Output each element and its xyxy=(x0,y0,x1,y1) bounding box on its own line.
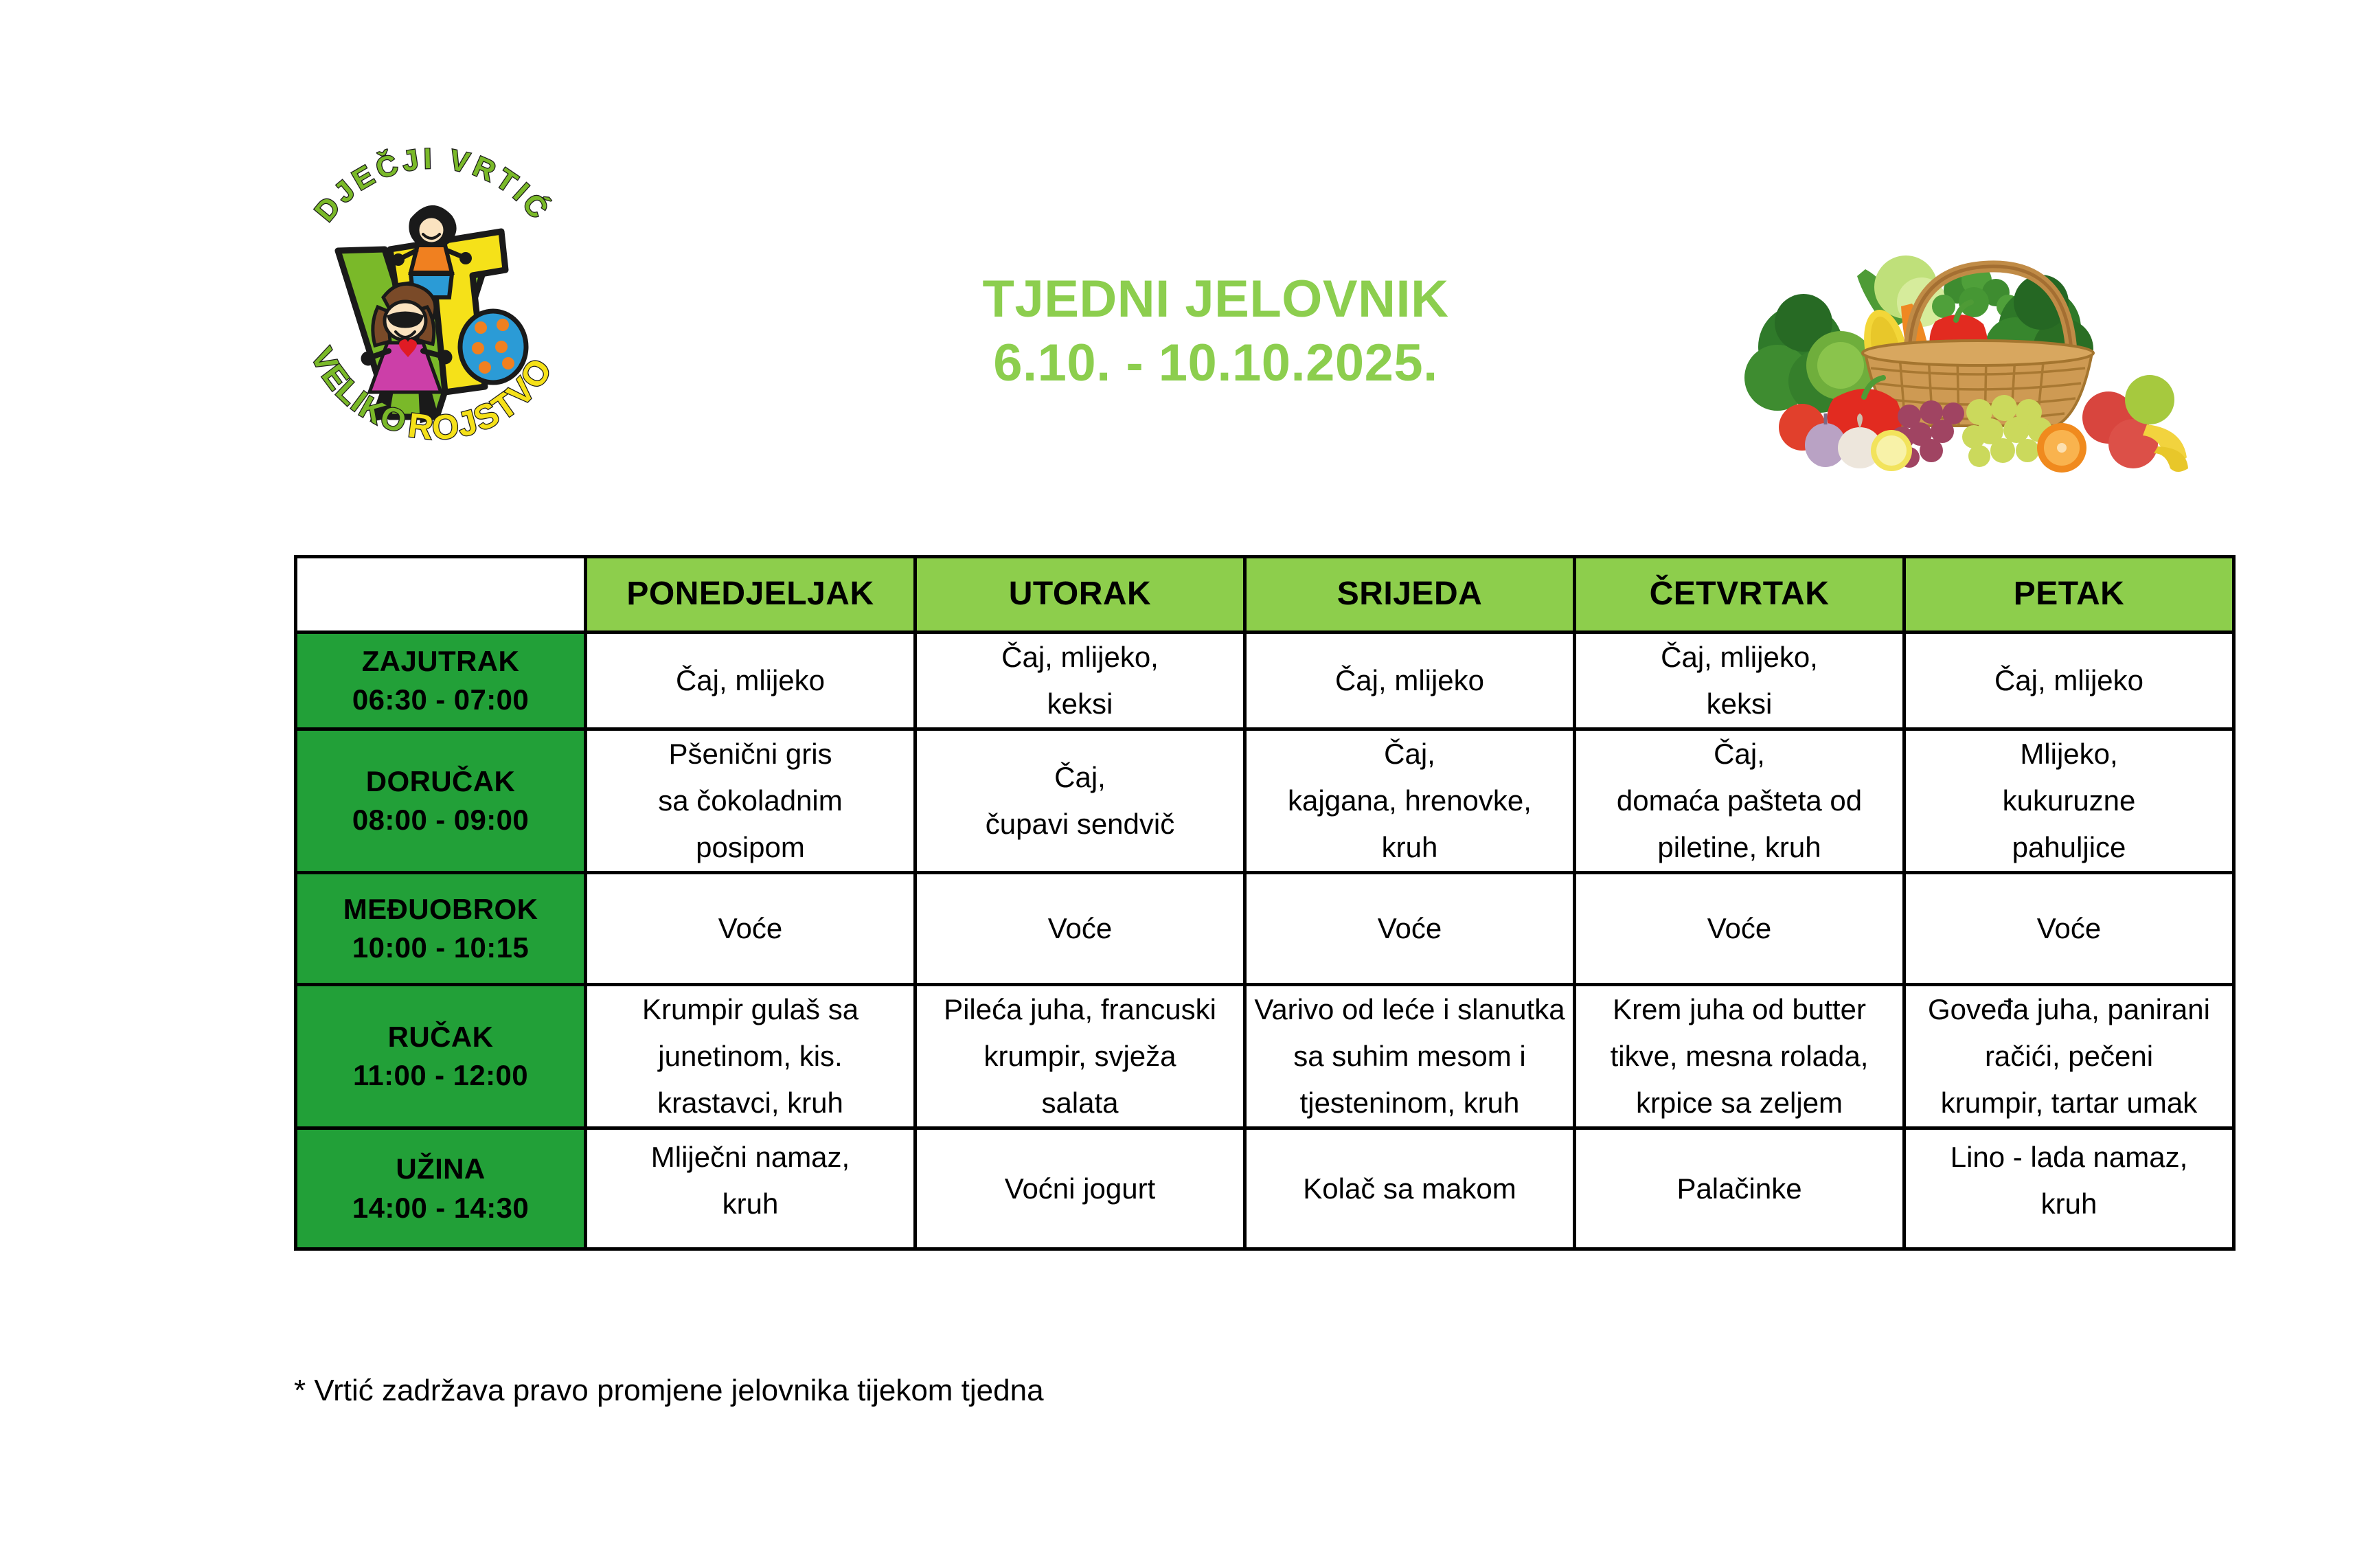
meal-name: DORUČAK xyxy=(297,762,584,801)
title-line-2: 6.10. - 10.10.2025. xyxy=(810,332,1621,396)
meal-name: UŽINA xyxy=(297,1150,584,1188)
menu-cell-line: kruh xyxy=(1247,824,1573,871)
menu-cell-line: Čaj, xyxy=(1247,731,1573,777)
menu-cell: Krumpir gulaš sajunetinom, kis.krastavci… xyxy=(586,985,915,1128)
menu-cell-line: kukuruzne xyxy=(1906,777,2232,824)
menu-footnote: * Vrtić zadržava pravo promjene jelovnik… xyxy=(294,1374,1044,1408)
menu-cell-line: Mlijeko, xyxy=(1906,731,2232,777)
menu-cell: Čaj,kajgana, hrenovke,kruh xyxy=(1245,729,1575,873)
meal-label-rucak: RUČAK 11:00 - 12:00 xyxy=(296,985,586,1128)
menu-cell-line: Palačinke xyxy=(1576,1166,1902,1212)
table-corner-cell xyxy=(296,557,586,633)
menu-cell-line: Čaj, xyxy=(917,754,1243,801)
menu-cell-line: Voće xyxy=(587,905,913,952)
kindergarten-logo: DJEČJI VRTIĆ VELIKO TROJSTVO xyxy=(275,148,591,443)
menu-cell-line: krumpir, svježa xyxy=(917,1033,1243,1080)
meal-name: ZAJUTRAK xyxy=(297,642,584,681)
menu-cell: Čaj,domaća pašteta odpiletine, kruh xyxy=(1575,729,1904,873)
menu-cell: Čaj, mlijeko xyxy=(1245,633,1575,729)
menu-cell-line: Čaj, mlijeko, xyxy=(1576,634,1902,681)
menu-cell-line: Čaj, mlijeko, xyxy=(917,634,1243,681)
menu-cell-line: posipom xyxy=(587,824,913,871)
day-header-wednesday: SRIJEDA xyxy=(1245,557,1575,633)
menu-cell: Voće xyxy=(586,873,915,985)
menu-cell: Čaj, mlijeko,keksi xyxy=(1575,633,1904,729)
meal-time: 11:00 - 12:00 xyxy=(297,1056,584,1095)
menu-cell-line: Kolač sa makom xyxy=(1247,1166,1573,1212)
meal-name: MEĐUOBROK xyxy=(297,890,584,929)
menu-cell-line: tjesteninom, kruh xyxy=(1247,1080,1573,1126)
menu-cell: Goveđa juha, paniraniračići, pečenikrump… xyxy=(1904,985,2234,1128)
menu-cell-line: Čaj, xyxy=(1576,731,1902,777)
menu-cell: Voće xyxy=(915,873,1245,985)
menu-cell-line: kruh xyxy=(587,1181,913,1227)
menu-cell-line: kruh xyxy=(1906,1181,2232,1227)
day-header-thursday: ČETVRTAK xyxy=(1575,557,1904,633)
meal-time: 06:30 - 07:00 xyxy=(297,681,584,719)
menu-cell-line: Krumpir gulaš sa xyxy=(587,986,913,1033)
menu-cell-line: tikve, mesna rolada, xyxy=(1576,1033,1902,1080)
basket-of-fruits-and-vegetables-image xyxy=(1738,206,2191,474)
menu-cell-line: krastavci, kruh xyxy=(587,1080,913,1126)
meal-time: 10:00 - 10:15 xyxy=(297,929,584,967)
weekly-menu-table-wrapper: PONEDJELJAK UTORAK SRIJEDA ČETVRTAK PETA… xyxy=(294,555,2232,1251)
menu-cell-line: Čaj, mlijeko xyxy=(1247,657,1573,704)
menu-cell: Voće xyxy=(1245,873,1575,985)
menu-cell-line: sa čokoladnim xyxy=(587,777,913,824)
menu-cell-line: čupavi sendvič xyxy=(917,801,1243,848)
menu-cell-line: račići, pečeni xyxy=(1906,1033,2232,1080)
menu-cell-line: Voće xyxy=(1906,905,2232,952)
menu-cell-line: Goveđa juha, panirani xyxy=(1906,986,2232,1033)
menu-cell: Čaj, mlijeko,keksi xyxy=(915,633,1245,729)
menu-cell-line: Pšenični gris xyxy=(587,731,913,777)
menu-cell: Palačinke xyxy=(1575,1128,1904,1249)
menu-cell-line: domaća pašteta od xyxy=(1576,777,1902,824)
menu-cell-line: Pileća juha, francuski xyxy=(917,986,1243,1033)
menu-cell: Čaj,čupavi sendvič xyxy=(915,729,1245,873)
menu-cell: Varivo od leće i slanutkasa suhim mesom … xyxy=(1245,985,1575,1128)
menu-cell-line: kajgana, hrenovke, xyxy=(1247,777,1573,824)
menu-cell: Kolač sa makom xyxy=(1245,1128,1575,1249)
menu-cell: Pileća juha, francuskikrumpir, svježasal… xyxy=(915,985,1245,1128)
menu-cell-line: Voće xyxy=(1247,905,1573,952)
title-line-1: TJEDNI JELOVNIK xyxy=(810,268,1621,332)
menu-cell-line: Voće xyxy=(1576,905,1902,952)
page-header: DJEČJI VRTIĆ VELIKO TROJSTVO TJEDNI JELO… xyxy=(0,0,2377,508)
meal-label-dorucak: DORUČAK 08:00 - 09:00 xyxy=(296,729,586,873)
menu-cell-line: Čaj, mlijeko xyxy=(587,657,913,704)
table-row-dorucak: DORUČAK 08:00 - 09:00 Pšenični grissa čo… xyxy=(296,729,2234,873)
meal-label-uzina: UŽINA 14:00 - 14:30 xyxy=(296,1128,586,1249)
meal-time: 08:00 - 09:00 xyxy=(297,801,584,839)
page-title: TJEDNI JELOVNIK 6.10. - 10.10.2025. xyxy=(810,268,1621,395)
menu-cell-line: krpice sa zeljem xyxy=(1576,1080,1902,1126)
menu-cell-line: salata xyxy=(917,1080,1243,1126)
menu-cell-line: sa suhim mesom i xyxy=(1247,1033,1573,1080)
meal-time: 14:00 - 14:30 xyxy=(297,1189,584,1227)
menu-cell-line: Voće xyxy=(917,905,1243,952)
menu-cell: Čaj, mlijeko xyxy=(1904,633,2234,729)
menu-cell-line: Mliječni namaz, xyxy=(587,1134,913,1181)
table-row-zajutrak: ZAJUTRAK 06:30 - 07:00 Čaj, mlijeko Čaj,… xyxy=(296,633,2234,729)
menu-cell-line: piletine, kruh xyxy=(1576,824,1902,871)
table-header-row: PONEDJELJAK UTORAK SRIJEDA ČETVRTAK PETA… xyxy=(296,557,2234,633)
menu-cell-line: Krem juha od butter xyxy=(1576,986,1902,1033)
menu-cell: Mlijeko,kukuruznepahuljice xyxy=(1904,729,2234,873)
menu-cell: Voćni jogurt xyxy=(915,1128,1245,1249)
menu-cell-line: junetinom, kis. xyxy=(587,1033,913,1080)
menu-cell-line: Varivo od leće i slanutka xyxy=(1247,986,1573,1033)
table-row-meduobrok: MEĐUOBROK 10:00 - 10:15 Voće Voće Voće V… xyxy=(296,873,2234,985)
menu-cell-line: krumpir, tartar umak xyxy=(1906,1080,2232,1126)
meal-label-zajutrak: ZAJUTRAK 06:30 - 07:00 xyxy=(296,633,586,729)
weekly-menu-table: PONEDJELJAK UTORAK SRIJEDA ČETVRTAK PETA… xyxy=(294,555,2236,1251)
day-header-monday: PONEDJELJAK xyxy=(586,557,915,633)
menu-cell-line: pahuljice xyxy=(1906,824,2232,871)
menu-cell: Mliječni namaz,kruh xyxy=(586,1128,915,1249)
meal-name: RUČAK xyxy=(297,1018,584,1056)
table-row-rucak: RUČAK 11:00 - 12:00 Krumpir gulaš sajune… xyxy=(296,985,2234,1128)
menu-cell-line: keksi xyxy=(917,681,1243,727)
menu-cell: Čaj, mlijeko xyxy=(586,633,915,729)
table-row-uzina: UŽINA 14:00 - 14:30 Mliječni namaz,kruh … xyxy=(296,1128,2234,1249)
menu-cell: Lino - lada namaz,kruh xyxy=(1904,1128,2234,1249)
menu-cell: Pšenični grissa čokoladnimposipom xyxy=(586,729,915,873)
menu-cell: Voće xyxy=(1904,873,2234,985)
day-header-tuesday: UTORAK xyxy=(915,557,1245,633)
menu-cell: Krem juha od buttertikve, mesna rolada,k… xyxy=(1575,985,1904,1128)
day-header-friday: PETAK xyxy=(1904,557,2234,633)
menu-cell: Voće xyxy=(1575,873,1904,985)
menu-cell-line: Voćni jogurt xyxy=(917,1166,1243,1212)
meal-label-meduobrok: MEĐUOBROK 10:00 - 10:15 xyxy=(296,873,586,985)
menu-cell-line: keksi xyxy=(1576,681,1902,727)
menu-cell-line: Lino - lada namaz, xyxy=(1906,1134,2232,1181)
menu-cell-line: Čaj, mlijeko xyxy=(1906,657,2232,704)
